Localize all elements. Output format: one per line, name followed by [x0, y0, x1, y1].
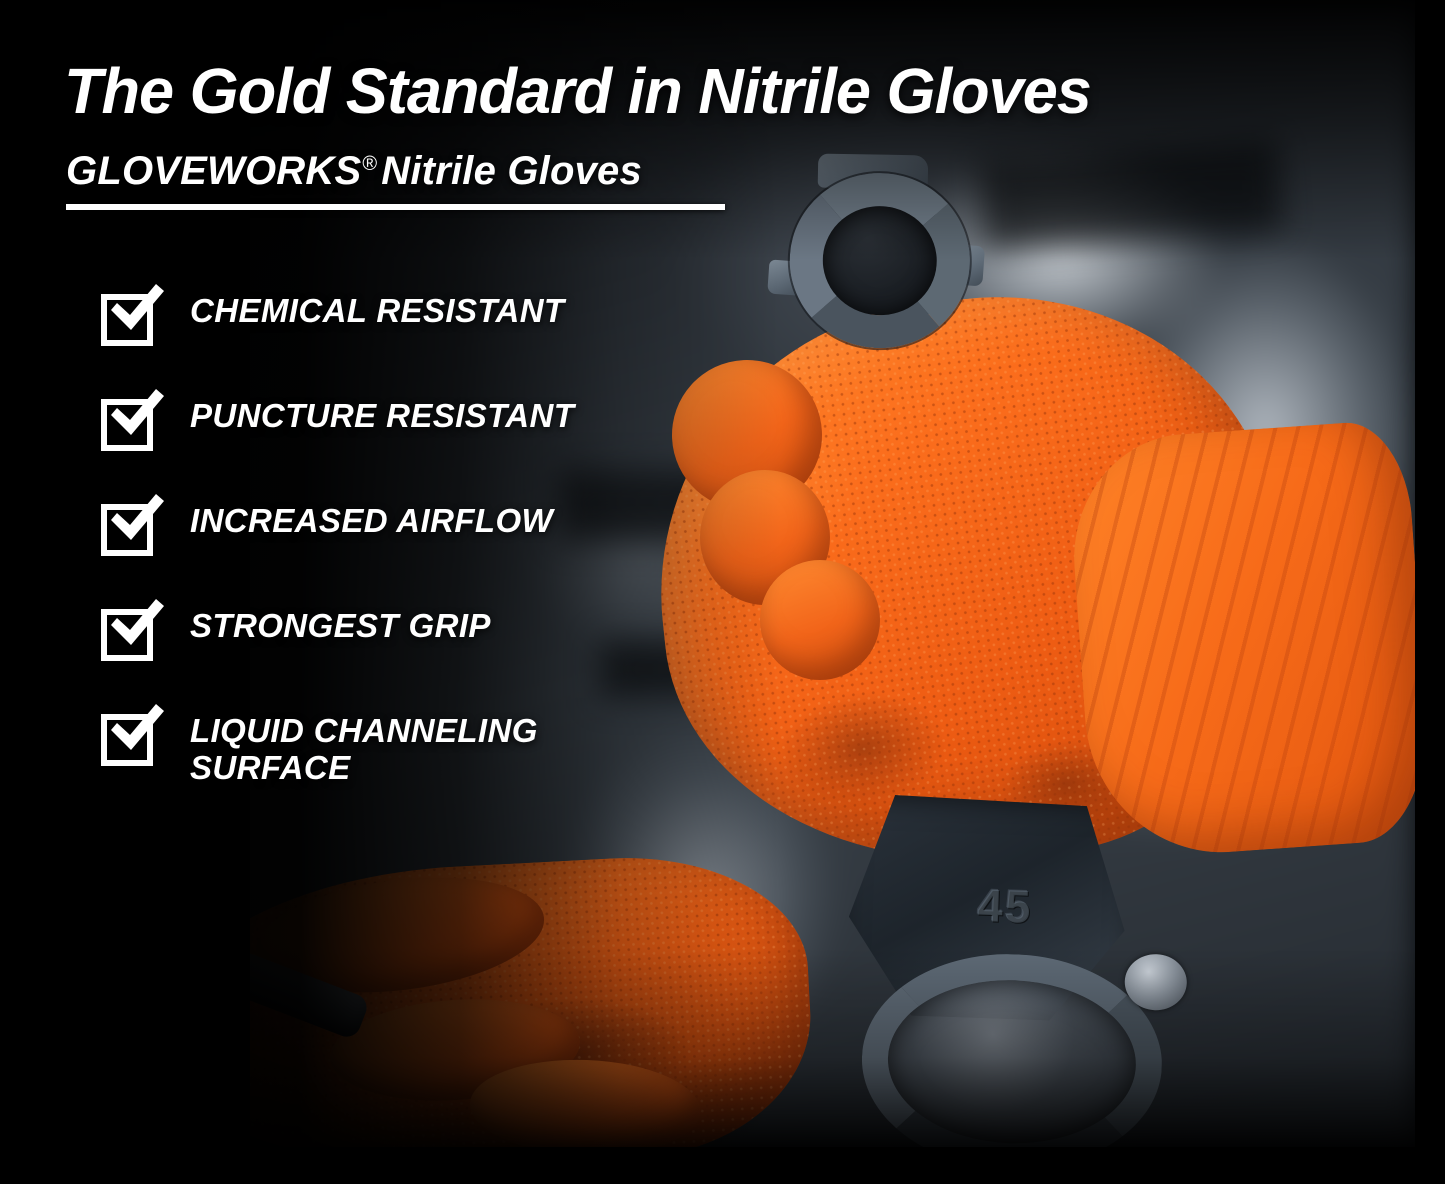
- check-mark-icon: [107, 599, 165, 651]
- feature-item: PUNCTURE RESISTANT: [101, 392, 741, 497]
- brand-name: GLOVEWORKS: [66, 149, 361, 193]
- page-title: The Gold Standard in Nitrile Gloves: [64, 58, 1384, 125]
- checkbox-checked-icon: [101, 394, 157, 450]
- feature-item: STRONGEST GRIP: [101, 602, 741, 707]
- checkbox-checked-icon: [101, 499, 157, 555]
- registered-trademark-icon: ®: [362, 153, 377, 175]
- check-mark-icon: [107, 284, 165, 336]
- feature-item: LIQUID CHANNELING SURFACE: [101, 707, 741, 787]
- brand-subtitle-rest: Nitrile Gloves: [381, 149, 642, 193]
- brand-subtitle: GLOVEWORKS®Nitrile Gloves: [66, 149, 642, 194]
- feature-label: LIQUID CHANNELING SURFACE: [190, 707, 610, 787]
- frame-right-edge: [1415, 0, 1445, 1184]
- checkbox-checked-icon: [101, 604, 157, 660]
- feature-label: INCREASED AIRFLOW: [190, 497, 553, 540]
- frame-bottom-edge: [0, 1147, 1445, 1184]
- feature-label: CHEMICAL RESISTANT: [190, 287, 565, 330]
- feature-item: INCREASED AIRFLOW: [101, 497, 741, 602]
- checkbox-checked-icon: [101, 289, 157, 345]
- check-mark-icon: [107, 389, 165, 441]
- check-mark-icon: [107, 704, 165, 756]
- subtitle-underline-rule: [66, 204, 725, 210]
- feature-list: CHEMICAL RESISTANTPUNCTURE RESISTANTINCR…: [101, 287, 741, 787]
- feature-label: PUNCTURE RESISTANT: [190, 392, 574, 435]
- check-mark-icon: [107, 494, 165, 546]
- feature-item: CHEMICAL RESISTANT: [101, 287, 741, 392]
- checkbox-checked-icon: [101, 709, 157, 765]
- feature-label: STRONGEST GRIP: [190, 602, 491, 645]
- product-feature-banner: 45 The Gold Standard in Nitrile Gloves G…: [0, 0, 1445, 1184]
